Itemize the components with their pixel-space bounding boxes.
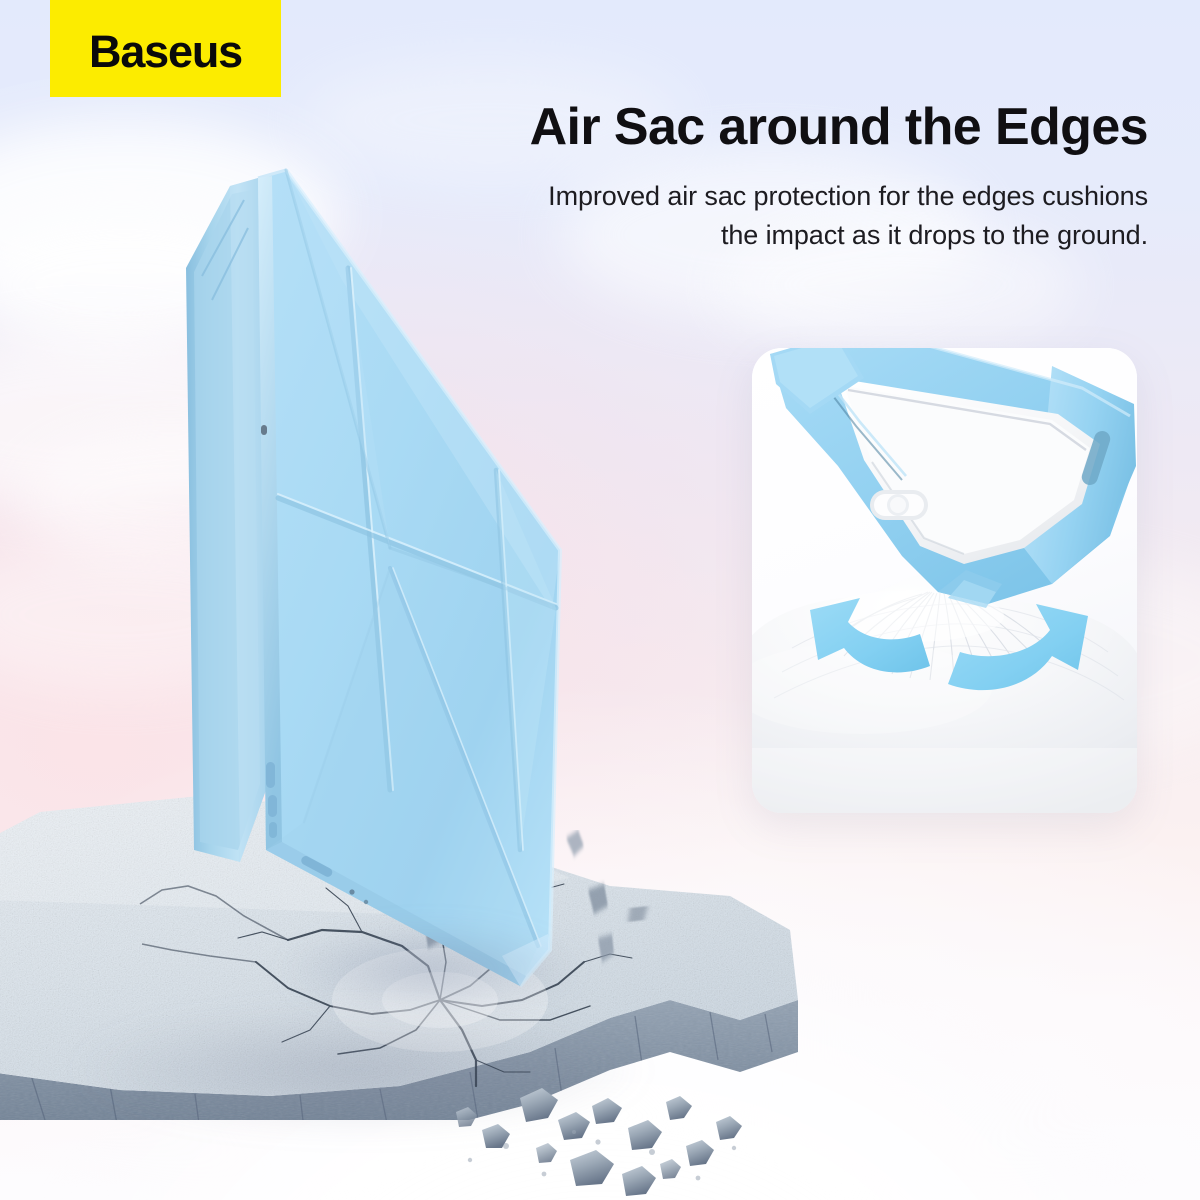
- air-sac-detail-panel: [752, 348, 1137, 813]
- marketing-banner: Baseus Air Sac around the Edges Improved…: [0, 0, 1200, 1200]
- subtitle-line-2: the impact as it drops to the ground.: [721, 220, 1148, 250]
- page-title: Air Sac around the Edges: [448, 100, 1148, 155]
- case-spine: [186, 178, 266, 862]
- tablet-case-svg: [90, 150, 650, 1030]
- inset-illustration: [752, 348, 1137, 813]
- tablet-case: [90, 150, 650, 1010]
- case-ground-shadow: [220, 910, 640, 1030]
- speaker-cutout: [870, 490, 928, 520]
- brand-logo-text: Baseus: [89, 26, 242, 78]
- brand-badge: Baseus: [50, 0, 281, 97]
